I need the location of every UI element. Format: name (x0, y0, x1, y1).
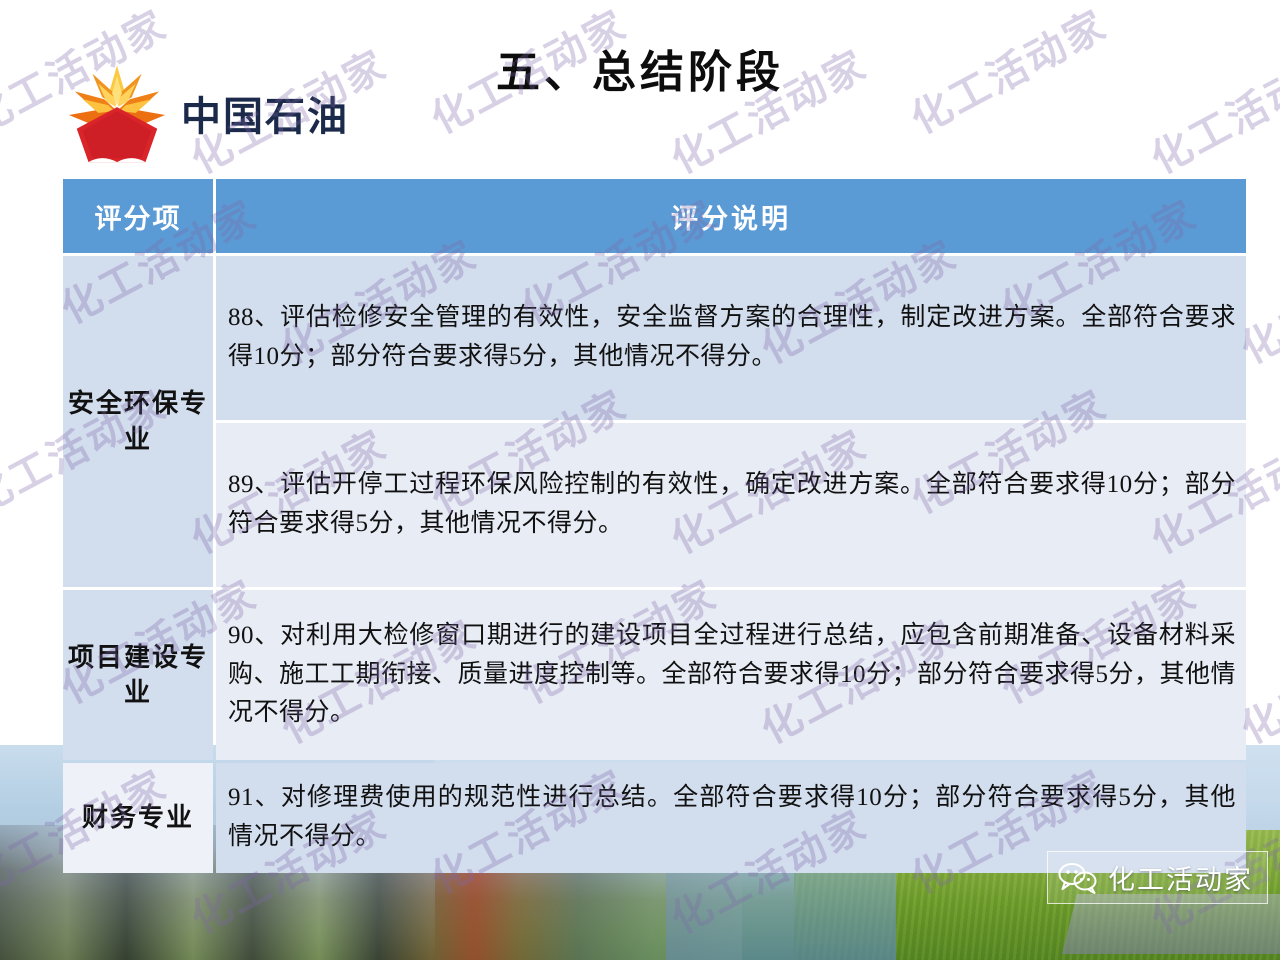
table-row: 89、评估开停工过程环保风险控制的有效性，确定改进方案。全部符合要求得10分；部… (63, 423, 1246, 587)
scoring-table: 评分项 评分说明 安全环保专业 88、评估检修安全管理的有效性，安全监督方案的合… (60, 176, 1249, 876)
wechat-icon (1058, 862, 1098, 894)
column-header-item: 评分项 (63, 179, 213, 253)
table-row: 安全环保专业 88、评估检修安全管理的有效性，安全监督方案的合理性，制定改进方案… (63, 256, 1246, 420)
description-cell-88: 88、评估检修安全管理的有效性，安全监督方案的合理性，制定改进方案。全部符合要求… (216, 256, 1246, 420)
description-cell-89: 89、评估开停工过程环保风险控制的有效性，确定改进方案。全部符合要求得10分；部… (216, 423, 1246, 587)
category-cell-finance: 财务专业 (63, 763, 213, 873)
column-header-description: 评分说明 (216, 179, 1246, 253)
category-cell-safety: 安全环保专业 (63, 256, 213, 587)
page-title: 五、总结阶段 (0, 36, 1280, 100)
table-header-row: 评分项 评分说明 (63, 179, 1246, 253)
table-row: 项目建设专业 90、对利用大检修窗口期进行的建设项目全过程进行总结，应包含前期准… (63, 590, 1246, 760)
wechat-account-badge: 化工活动家 (1047, 851, 1268, 904)
category-cell-project: 项目建设专业 (63, 590, 213, 760)
slide-canvas: 中国石油 五、总结阶段 评分项 评分说明 安全环保专业 88、评估检修安全管理的… (0, 0, 1280, 960)
description-cell-90: 90、对利用大检修窗口期进行的建设项目全过程进行总结，应包含前期准备、设备材料采… (216, 590, 1246, 760)
wechat-account-name: 化工活动家 (1108, 858, 1253, 897)
